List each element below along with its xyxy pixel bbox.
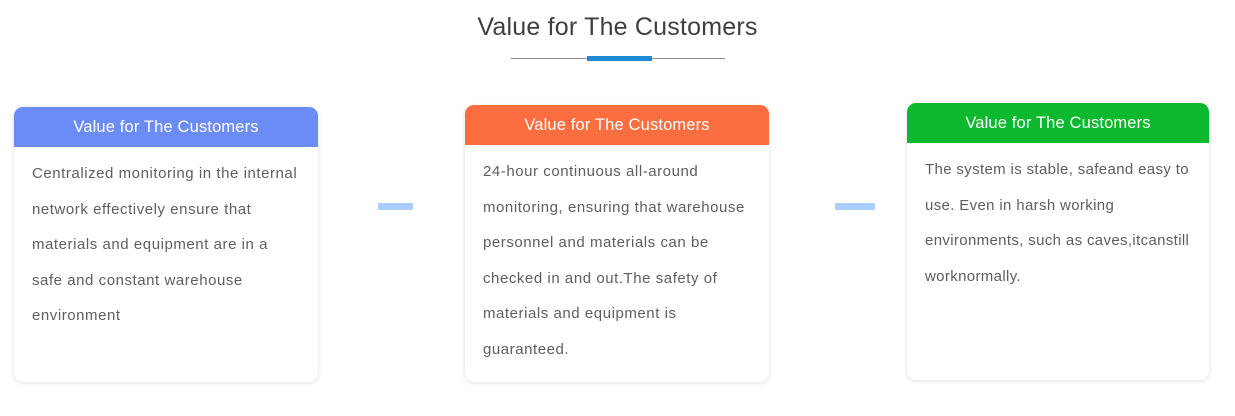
title-rule-accent xyxy=(587,56,652,61)
page-title: Value for The Customers xyxy=(0,8,1235,46)
value-card-1-body: Centralized monitoring in the internal n… xyxy=(14,147,318,346)
value-card-3-body: The system is stable, safeand easy to us… xyxy=(907,143,1209,306)
value-card-1-header: Value for The Customers xyxy=(14,107,318,147)
value-card-2-header: Value for The Customers xyxy=(465,105,769,145)
title-underline-rule xyxy=(511,55,725,63)
value-card-3-header: Value for The Customers xyxy=(907,103,1209,143)
page-title-block: Value for The Customers xyxy=(0,8,1235,63)
value-card-2[interactable]: Value for The Customers 24-hour continuo… xyxy=(465,105,769,382)
value-card-2-body: 24-hour continuous all-around monitoring… xyxy=(465,145,769,379)
value-card-1[interactable]: Value for The Customers Centralized moni… xyxy=(14,107,318,382)
connector-arrow-1 xyxy=(378,203,413,210)
connector-arrow-2 xyxy=(835,203,875,210)
value-card-3[interactable]: Value for The Customers The system is st… xyxy=(907,103,1209,380)
